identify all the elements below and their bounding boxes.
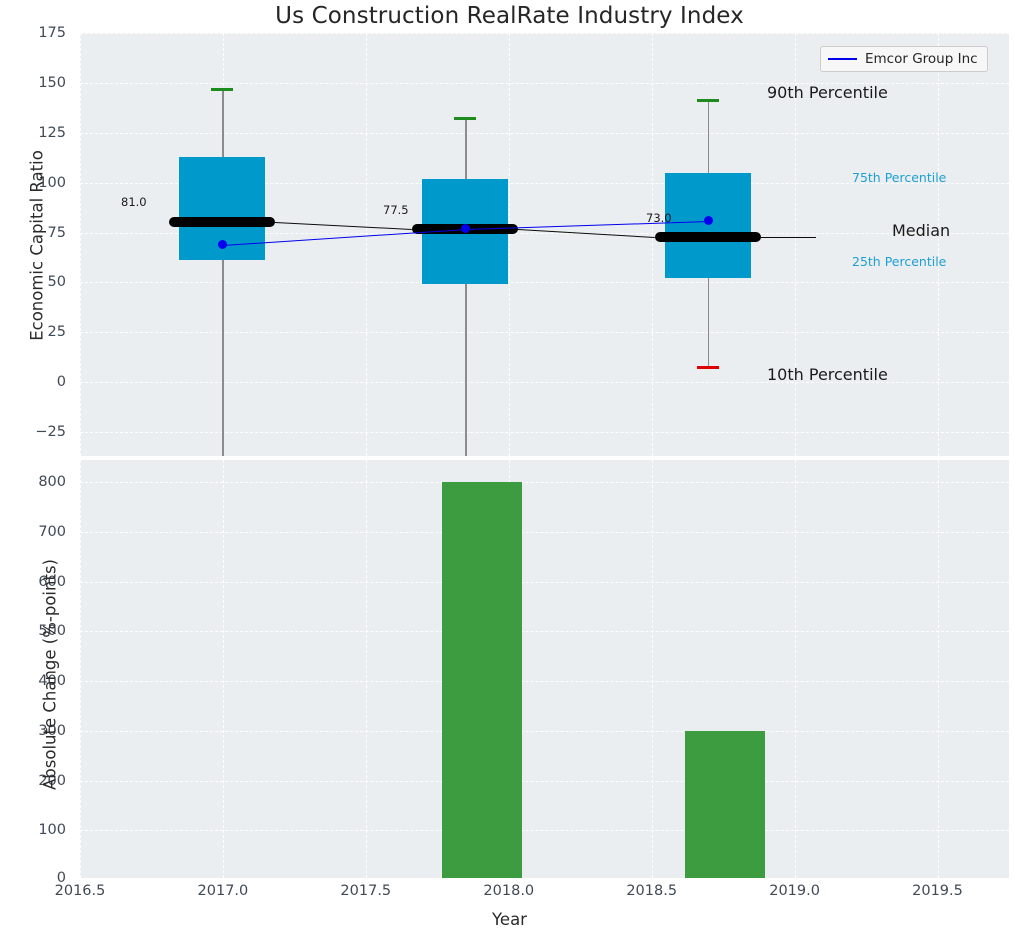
gridline-h: [80, 332, 1009, 333]
ytick-top: 0: [0, 375, 66, 390]
y-axis-label-bottom: Absolute Change (%-points): [41, 530, 60, 820]
annotation-median: Median: [892, 221, 950, 240]
legend-label-emcor: Emcor Group Inc: [865, 51, 978, 67]
gridline-h: [80, 781, 1009, 782]
y-axis-label-top: Economic Capital Ratio: [28, 121, 47, 371]
whisker-2017: [222, 90, 224, 456]
bottom-plot-area: [80, 460, 1009, 878]
gridline-v: [652, 460, 653, 878]
annotation-75th-percentile: 75th Percentile: [852, 170, 946, 185]
median-bar-2017: [169, 217, 275, 227]
gridline-h: [80, 532, 1009, 533]
gridline-v: [652, 33, 653, 456]
gridline-h: [80, 731, 1009, 732]
ytick-bottom: 100: [0, 823, 66, 838]
cap-p90-2017: [211, 88, 233, 91]
box-2019: [665, 173, 751, 279]
xtick: 2019.0: [735, 884, 855, 899]
gridline-v: [80, 460, 81, 878]
gridline-v: [366, 460, 367, 878]
ytick-bottom: 800: [0, 475, 66, 490]
xtick: 2017.5: [306, 884, 426, 899]
gridline-h: [80, 681, 1009, 682]
ytick-top: 150: [0, 76, 66, 91]
cap-p90-2018: [454, 117, 476, 120]
ytick-top: −25: [0, 425, 66, 440]
gridline-v: [938, 33, 939, 456]
gridline-h: [80, 582, 1009, 583]
annotation-10th-percentile: 10th Percentile: [767, 365, 888, 384]
gridline-h: [80, 482, 1009, 483]
median-value-2018: 77.5: [383, 203, 409, 217]
bar-2019: [685, 731, 765, 878]
gridline-v: [366, 33, 367, 456]
xtick: 2019.5: [878, 884, 998, 899]
legend[interactable]: Emcor Group Inc: [820, 46, 988, 72]
top-plot-area: 81.0 77.5 73.0 90th Percentile 75th Perc…: [80, 33, 1009, 456]
median-bar-2019: [655, 232, 761, 242]
annotation-90th-percentile: 90th Percentile: [767, 83, 888, 102]
gridline-h: [80, 830, 1009, 831]
gridline-v: [795, 460, 796, 878]
median-trend-segment: [275, 222, 412, 230]
cap-p10-2019: [697, 366, 719, 369]
ytick-top: 175: [0, 26, 66, 41]
gridline-v: [938, 460, 939, 878]
median-value-2017: 81.0: [121, 195, 147, 209]
gridline-h: [80, 33, 1009, 34]
whisker-2018: [465, 119, 467, 456]
gridline-h: [80, 282, 1009, 283]
gridline-h: [80, 432, 1009, 433]
gridline-h: [80, 631, 1009, 632]
gridline-v: [80, 33, 81, 456]
xtick: 2017.0: [163, 884, 283, 899]
cap-p90-2019: [697, 99, 719, 102]
chart-title: Us Construction RealRate Industry Index: [0, 3, 1019, 29]
figure-canvas: Us Construction RealRate Industry Index …: [0, 0, 1019, 942]
gridline-v: [223, 460, 224, 878]
xtick: 2018.5: [592, 884, 712, 899]
gridline-v: [509, 33, 510, 456]
annotation-25th-percentile: 25th Percentile: [852, 254, 946, 269]
median-trend-segment: [761, 237, 816, 238]
gridline-h: [80, 133, 1009, 134]
x-axis-label: Year: [0, 910, 1019, 929]
bar-2018: [442, 482, 522, 878]
xtick: 2018.0: [449, 884, 569, 899]
xtick: 2016.5: [20, 884, 140, 899]
legend-line-icon: [828, 58, 857, 60]
